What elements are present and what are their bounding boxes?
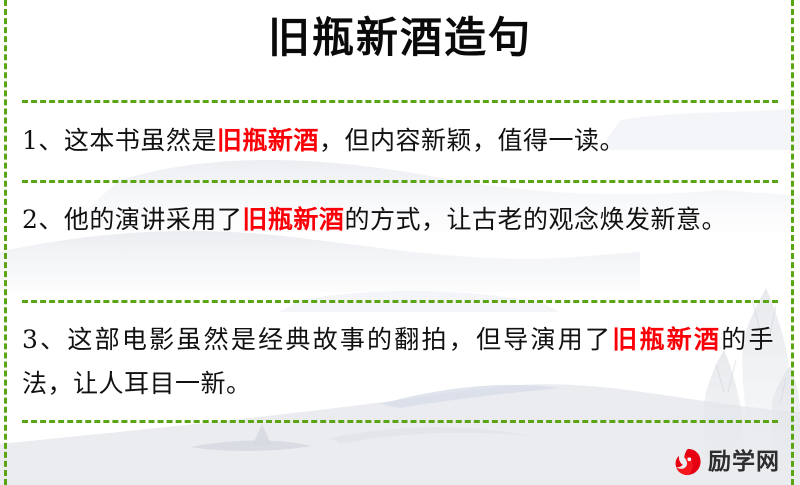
worksheet-page: 旧瓶新酒造句 1、这本书虽然是旧瓶新酒，但内容新颖，值得一读。 2、他的演讲采用… [0,0,800,485]
sentence-3-idiom: 旧瓶新酒 [612,325,721,354]
list-item: 2、他的演讲采用了旧瓶新酒的方式，让古老的观念焕发新意。 [22,180,774,300]
sentence-1-tail: ，但内容新颖，值得一读。 [319,126,625,155]
sentence-text-1: 1、这本书虽然是旧瓶新酒，但内容新颖，值得一读。 [22,119,774,163]
right-dashed-border [791,0,794,485]
left-dashed-border [4,0,7,485]
sentence-text-2: 2、他的演讲采用了旧瓶新酒的方式，让古老的观念焕发新意。 [22,198,774,242]
red-swirl-logo-icon [672,447,702,477]
separator-2 [22,300,778,303]
sentence-2-lead: 2、他的演讲采用了 [22,205,242,234]
page-title: 旧瓶新酒造句 [0,14,800,62]
sentence-2-idiom: 旧瓶新酒 [242,205,344,234]
separator-1 [22,180,778,183]
sentence-1-lead: 1、这本书虽然是 [22,126,217,155]
example-sentence-list: 1、这本书虽然是旧瓶新酒，但内容新颖，值得一读。 2、他的演讲采用了旧瓶新酒的方… [22,101,774,420]
list-item: 1、这本书虽然是旧瓶新酒，但内容新颖，值得一读。 [22,101,774,180]
list-item: 3、这部电影虽然是经典故事的翻拍，但导演用了旧瓶新酒的手法，让人耳目一新。 [22,300,774,420]
sentence-text-3: 3、这部电影虽然是经典故事的翻拍，但导演用了旧瓶新酒的手法，让人耳目一新。 [22,318,774,406]
sentence-2-tail: 的方式，让古老的观念焕发新意。 [344,205,727,234]
sentence-1-idiom: 旧瓶新酒 [217,126,319,155]
separator-bottom [22,420,778,423]
site-logo[interactable]: 励学网 [672,447,780,477]
site-logo-text: 励学网 [708,451,780,474]
page-title-text: 旧瓶新酒造句 [268,14,532,62]
separator-top [22,100,778,103]
sentence-3-lead: 3、这部电影虽然是经典故事的翻拍，但导演用了 [22,325,612,354]
